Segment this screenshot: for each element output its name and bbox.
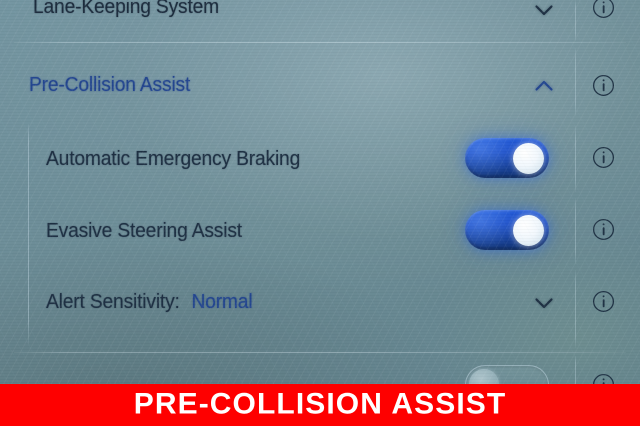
alert-sensitivity-label-text: Alert Sensitivity:: [46, 290, 180, 313]
row-label-evasive-steering-assist: Evasive Steering Assist: [46, 219, 242, 243]
driver-assist-settings-list: Lane-Keeping System Pre-Collision Assist: [0, 0, 640, 426]
settings-row-lane-keeping-system[interactable]: Lane-Keeping System: [0, 0, 640, 42]
info-column-rule-row2: [575, 48, 576, 116]
caption-banner-text: PRE-COLLISION ASSIST: [134, 390, 507, 420]
settings-row-pre-collision-assist[interactable]: Pre-Collision Assist: [0, 43, 640, 121]
chevron-up-icon[interactable]: [531, 73, 557, 99]
alert-sensitivity-value: Normal: [191, 290, 252, 313]
chevron-down-icon[interactable]: [531, 290, 557, 316]
info-icon[interactable]: [592, 0, 615, 19]
toggle-automatic-emergency-braking[interactable]: [465, 138, 549, 178]
settings-row-automatic-emergency-braking[interactable]: Automatic Emergency Braking: [0, 124, 640, 196]
info-column-rule-row5: [575, 270, 576, 348]
toggle-evasive-steering-assist[interactable]: [465, 210, 549, 250]
infotainment-screen-photo: Lane-Keeping System Pre-Collision Assist: [0, 0, 640, 426]
info-icon[interactable]: [592, 290, 615, 313]
toggle-knob: [513, 215, 544, 246]
chevron-down-icon[interactable]: [531, 0, 557, 23]
row-label-pre-collision-assist: Pre-Collision Assist: [29, 73, 190, 97]
row-label-alert-sensitivity: Alert Sensitivity: Normal: [46, 290, 252, 314]
info-column-rule-row4: [575, 198, 576, 264]
caption-banner: PRE-COLLISION ASSIST: [0, 384, 640, 426]
row-label-lane-keeping-system: Lane-Keeping System: [33, 0, 219, 19]
settings-row-alert-sensitivity[interactable]: Alert Sensitivity: Normal: [0, 268, 640, 352]
row-label-automatic-emergency-braking: Automatic Emergency Braking: [46, 147, 300, 171]
info-column-rule-row3: [575, 126, 576, 192]
info-icon[interactable]: [592, 74, 615, 97]
toggle-knob: [513, 143, 544, 174]
info-icon[interactable]: [592, 146, 615, 169]
info-icon[interactable]: [592, 218, 615, 241]
settings-row-evasive-steering-assist[interactable]: Evasive Steering Assist: [0, 196, 640, 268]
info-column-rule-row1: [575, 0, 576, 41]
